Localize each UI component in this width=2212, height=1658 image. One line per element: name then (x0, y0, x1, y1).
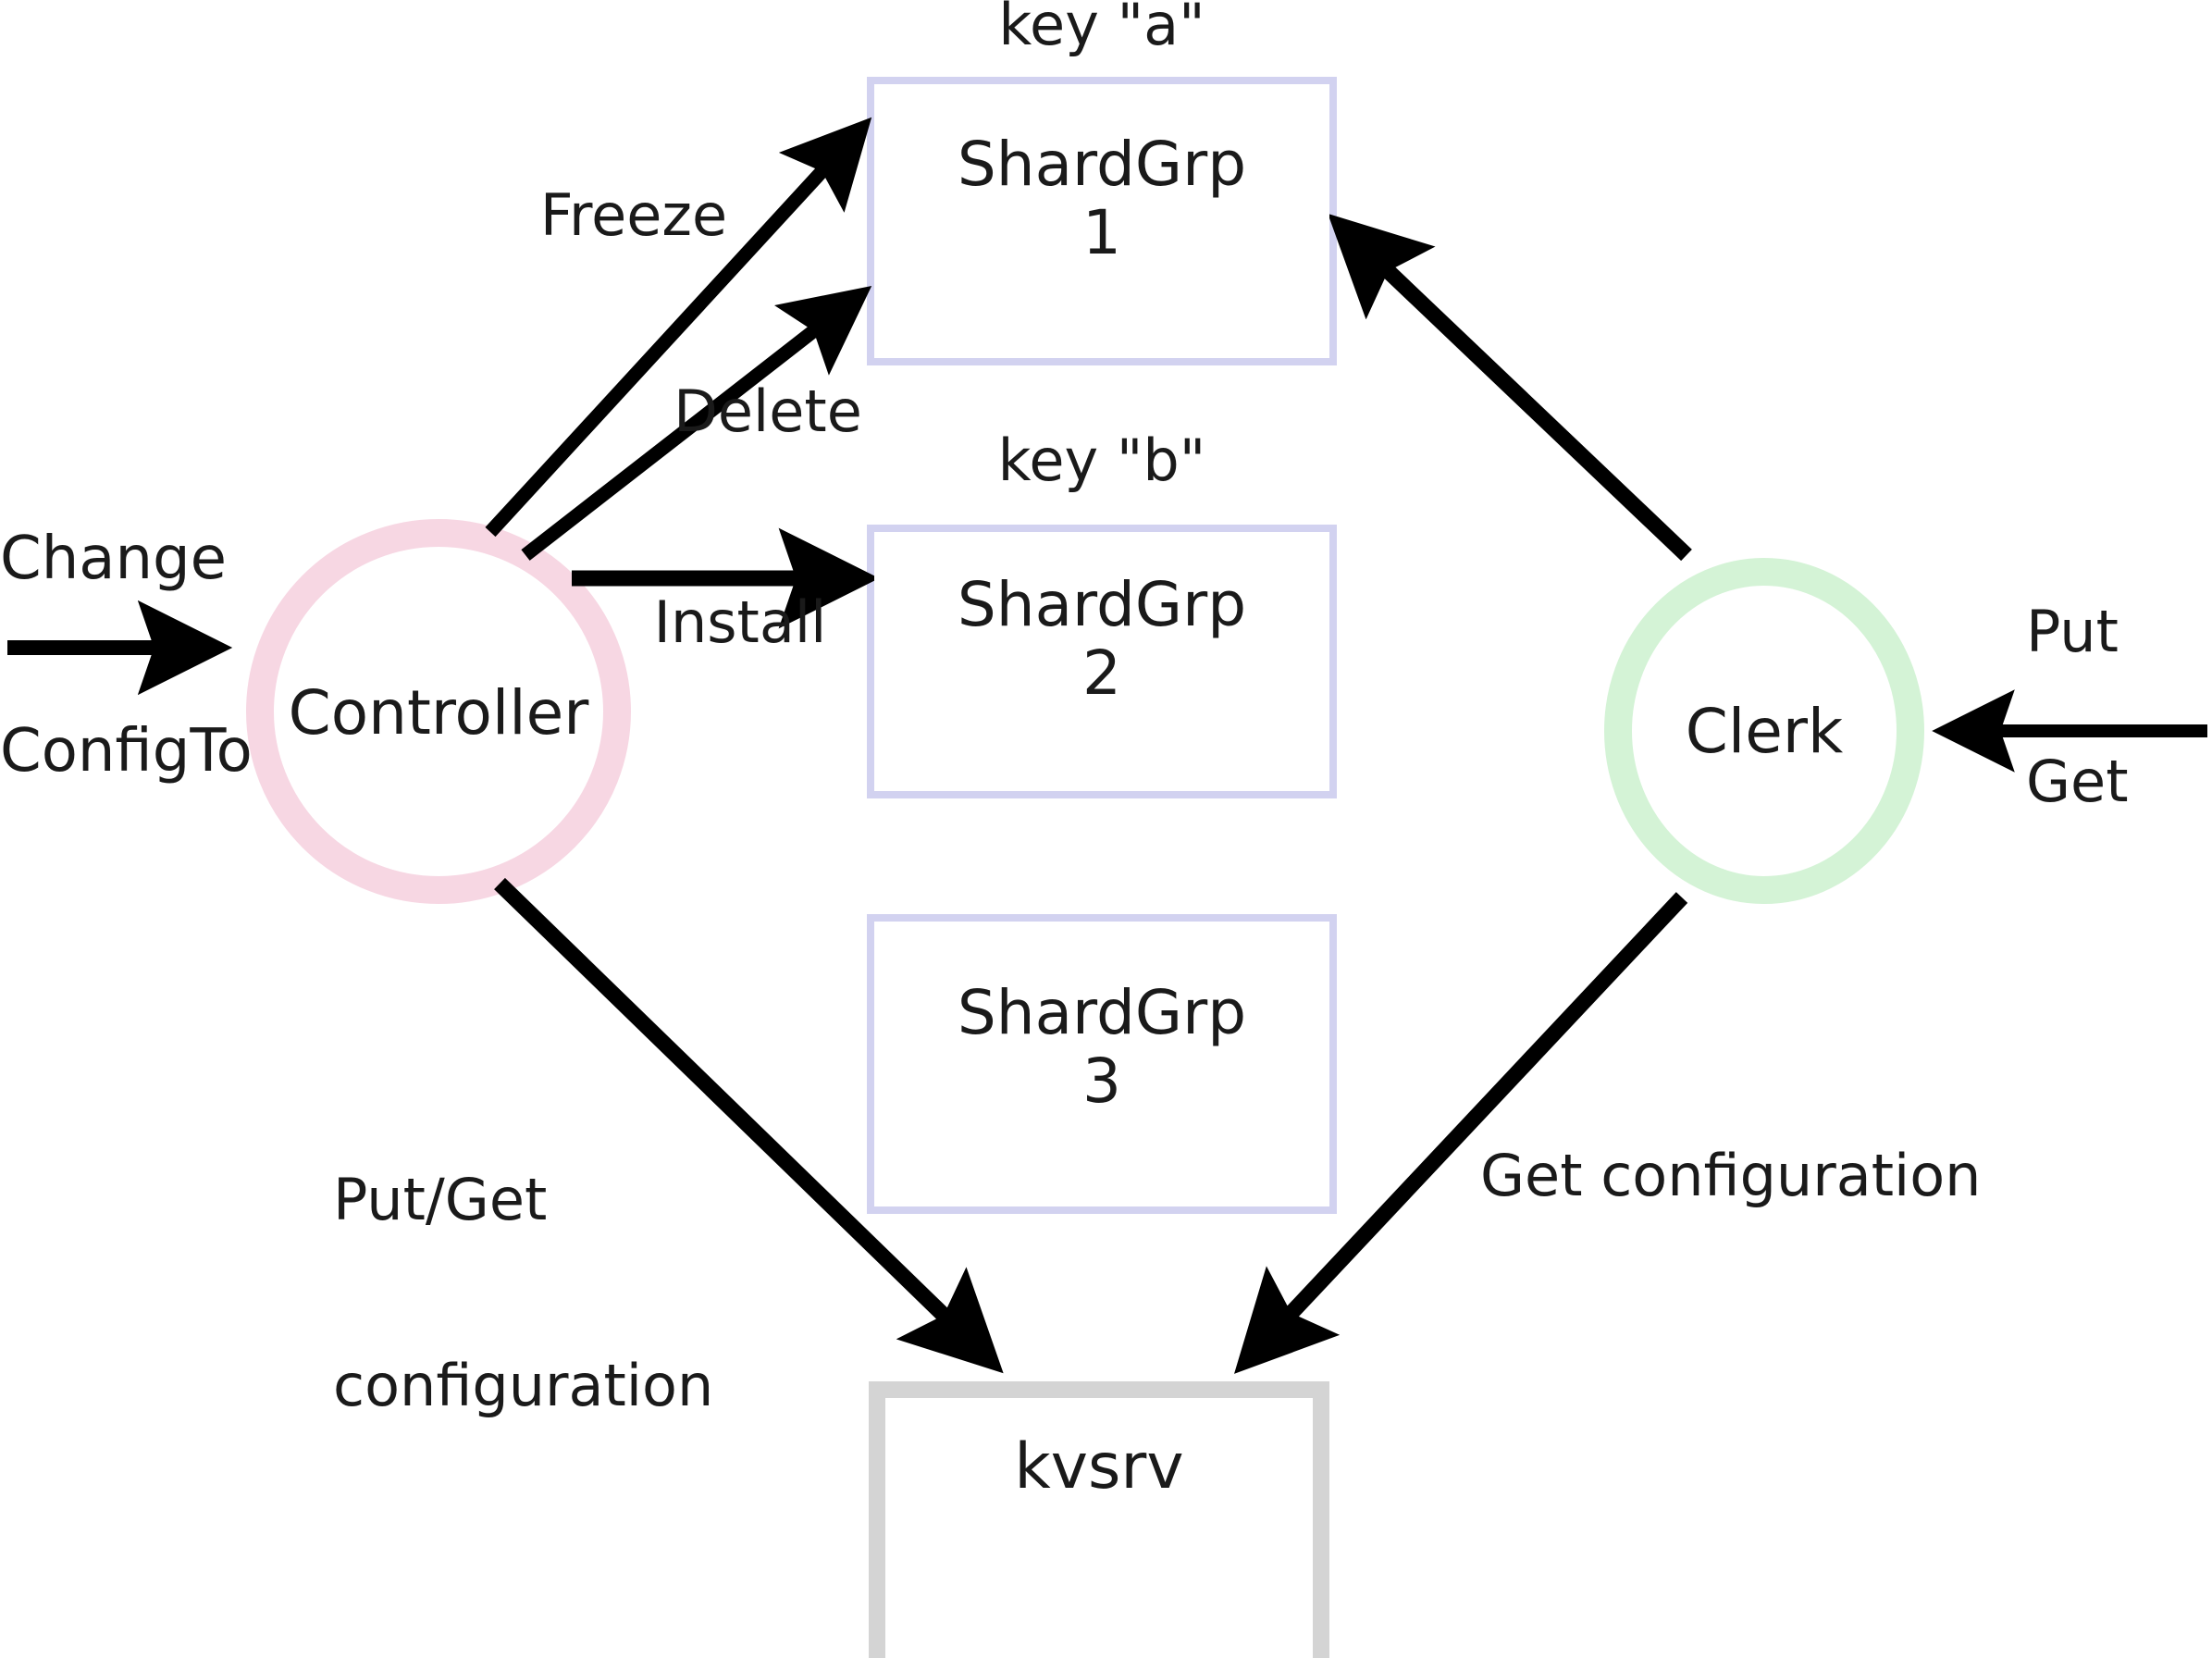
shardgrp-2-name: ShardGrp (874, 571, 1329, 639)
edge-clerk-to-shardgrp1-line (1341, 227, 1687, 555)
shardgrp-1-index: 1 (874, 199, 1329, 267)
edge-delete-line (525, 296, 859, 555)
shardgrp-3-box[interactable]: ShardGrp 3 (874, 922, 1329, 1206)
clerk-circle-outline (1618, 572, 1910, 890)
shardgrp-2-index: 2 (874, 639, 1329, 708)
kvsrv-label: kvsrv (877, 1432, 1321, 1503)
shardgrp-3-index: 3 (874, 1047, 1329, 1116)
shardgrp-1-name: ShardGrp (874, 130, 1329, 199)
shardgrp-2-box[interactable]: ShardGrp 2 (874, 532, 1329, 791)
shardgrp-1-label: ShardGrp 1 (874, 130, 1329, 267)
shardgrp-1-box[interactable]: ShardGrp 1 (874, 84, 1329, 358)
shardgrp-3-name: ShardGrp (874, 979, 1329, 1047)
controller-circle-outline (260, 533, 617, 890)
shardgrp-3-label: ShardGrp 3 (874, 979, 1329, 1116)
diagram-canvas: key "a" key "b" ShardGrp 1 ShardGrp 2 Sh… (0, 0, 2212, 1658)
shardgrp-2-label: ShardGrp 2 (874, 571, 1329, 708)
kvsrv-box[interactable]: kvsrv (877, 1390, 1321, 1658)
